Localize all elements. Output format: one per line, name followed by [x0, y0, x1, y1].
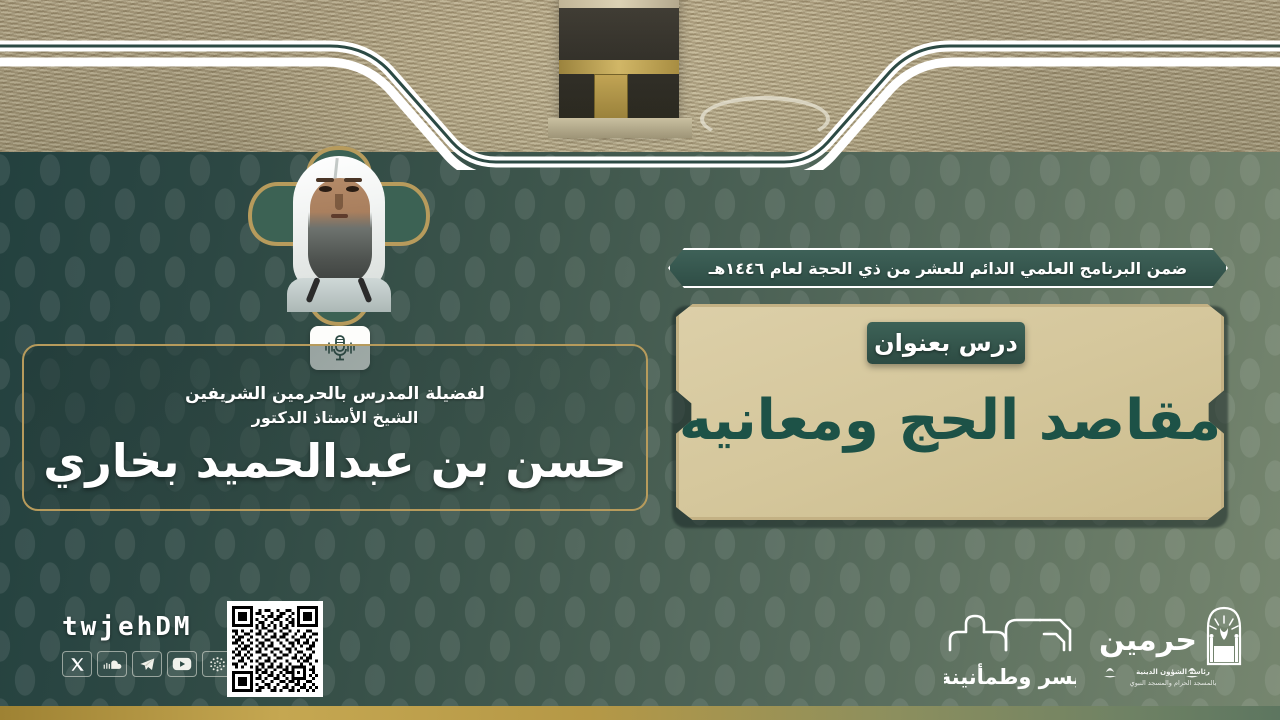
speaker-info-panel: لفضيلة المدرس بالحرمين الشريفين الشيخ ال… [22, 344, 648, 511]
speaker-photo [279, 152, 399, 312]
haramain-caption-line-2: بالمسجد الحرام والمسجد النبوي [1100, 679, 1246, 687]
account-handle: twjehDM [62, 612, 232, 642]
beard [308, 212, 372, 286]
qr-matrix [232, 606, 318, 692]
eyebrow-left [316, 178, 334, 182]
soundcloud-glyph [103, 658, 122, 671]
x-twitter-icon[interactable] [62, 651, 92, 677]
speaker-title-line-2: الشيخ الأستاذ الدكتور [252, 408, 419, 427]
social-links-row [62, 651, 232, 677]
hero-sepia-tint [0, 0, 1280, 152]
eye-left [319, 186, 332, 192]
dotted-circle-glyph [209, 656, 226, 673]
soundcloud-icon[interactable] [97, 651, 127, 677]
qr-code[interactable] [227, 601, 323, 697]
lesson-title: مقاصد الحج ومعانيه [679, 390, 1221, 452]
poster-canvas: لفضيلة المدرس بالحرمين الشريفين الشيخ ال… [0, 0, 1280, 720]
eye-right [346, 186, 359, 192]
yusr-logo-text: يسر وطمأنينة [944, 662, 1076, 689]
haramain-wordmark: حرمين [1099, 623, 1197, 658]
hero-kaaba-photo [0, 0, 1280, 152]
program-banner: ضمن البرنامج العلمي الدائم للعشر من ذي ا… [668, 248, 1228, 288]
branding-block: twjehDM [62, 612, 232, 677]
speaker-portrait [246, 144, 432, 330]
haramain-caption-line-1: رئاسة الشؤون الدينية [1100, 668, 1246, 676]
yusr-wa-tamaneena-logo: يسر وطمأنينة [944, 604, 1076, 696]
telegram-glyph [139, 657, 156, 672]
speaker-name: حسن بن عبدالحميد بخاري [43, 435, 627, 488]
mouth [331, 214, 348, 218]
nose [335, 194, 343, 210]
gold-bottom-strip [0, 706, 1280, 720]
telegram-icon[interactable] [132, 651, 162, 677]
speaker-title-line-1: لفضيلة المدرس بالحرمين الشريفين [185, 384, 485, 404]
youtube-icon[interactable] [167, 651, 197, 677]
eyebrow-right [344, 178, 362, 182]
thobe-shoulders [287, 278, 391, 312]
x-glyph [70, 657, 85, 672]
youtube-glyph [172, 657, 192, 671]
lesson-label-badge: درس بعنوان [867, 322, 1025, 364]
